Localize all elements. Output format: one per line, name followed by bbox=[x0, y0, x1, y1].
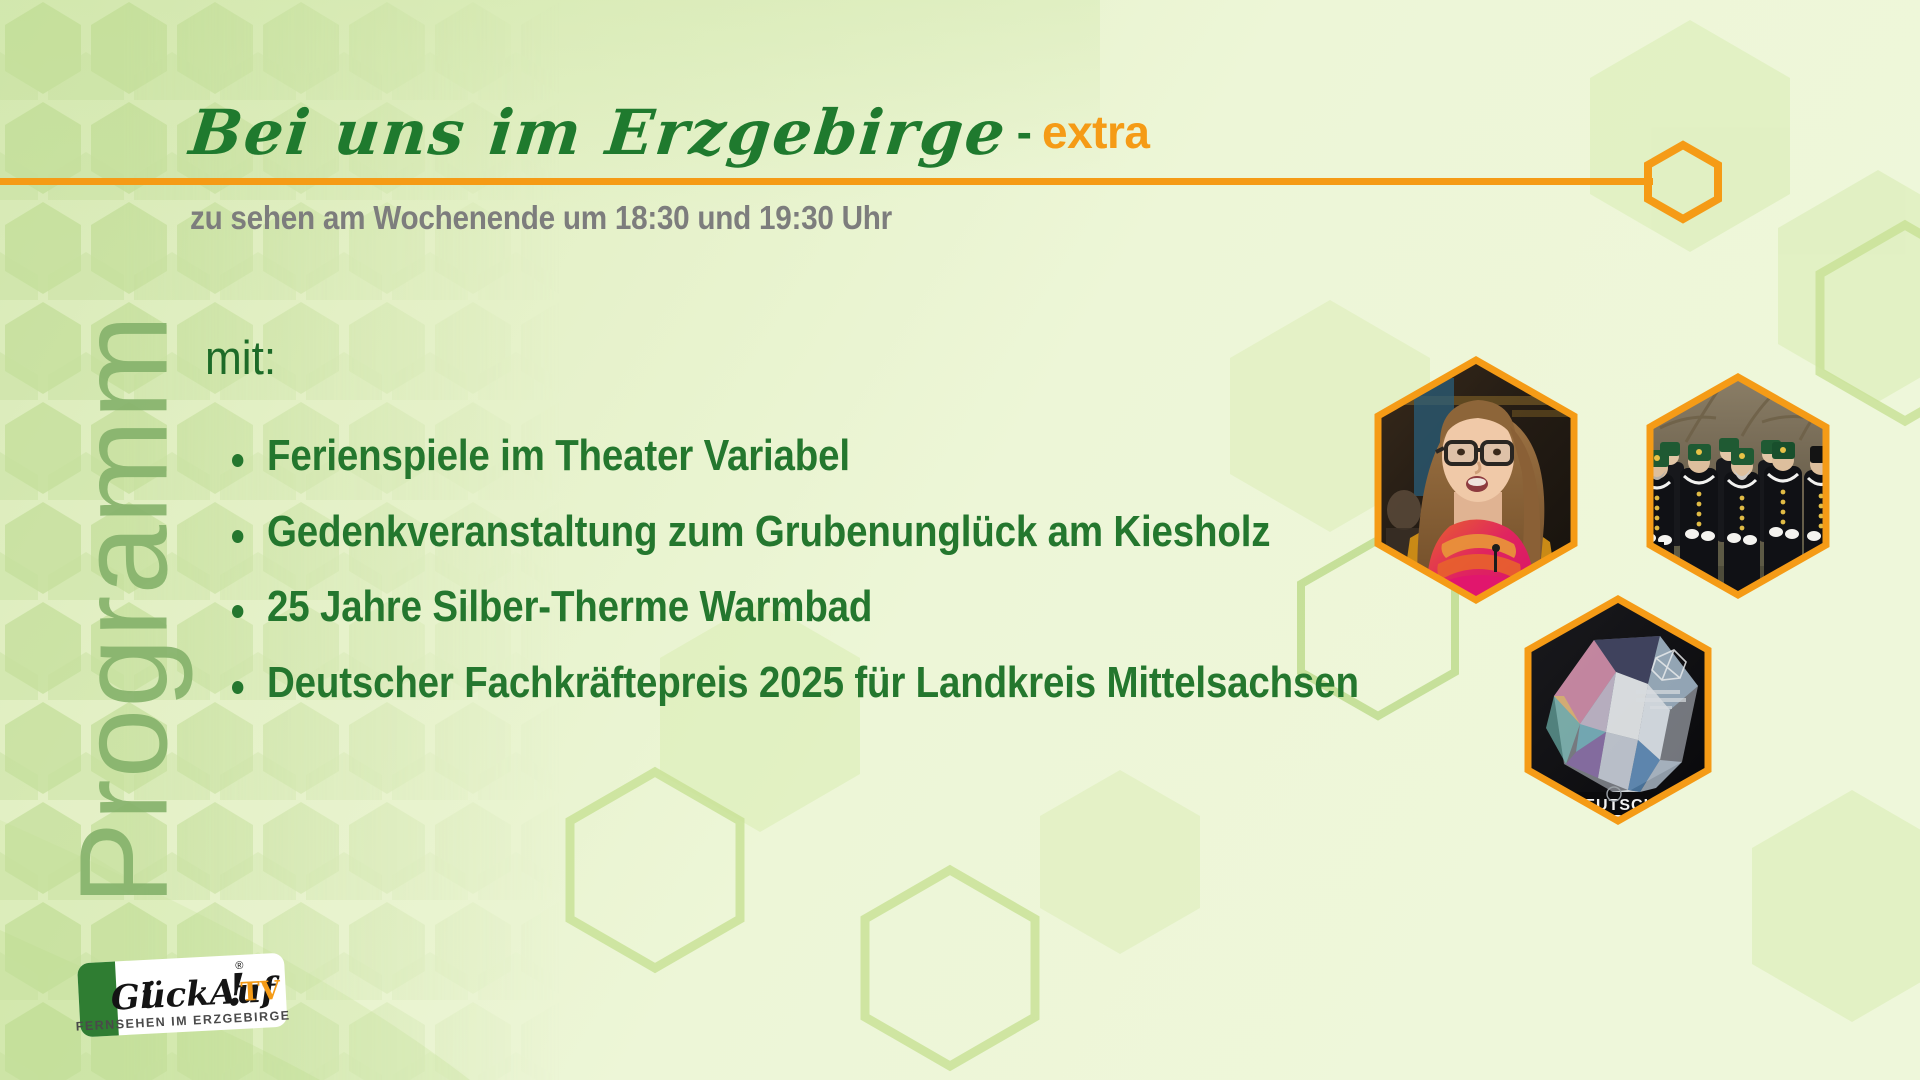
list-item: Deutscher Fachkräftepreis 2025 für Landk… bbox=[225, 659, 1359, 707]
title-extra-text: extra bbox=[1042, 105, 1149, 159]
hexagon-photo-crystal-award: DEUTSCH CHKRÄ bbox=[1510, 592, 1726, 828]
section-label-programm: Programm bbox=[53, 290, 196, 930]
list-item: Ferienspiele im Theater Variabel bbox=[225, 432, 1359, 480]
broadcast-slide: Bei uns im Erzgebirge-extra zu sehen am … bbox=[0, 0, 1920, 1080]
list-item: Gedenkveranstaltung zum Grubenunglück am… bbox=[225, 508, 1359, 556]
hexagon-outline-icon bbox=[1640, 140, 1726, 224]
broadcast-times-subtitle: zu sehen am Wochenende um 18:30 und 19:3… bbox=[190, 199, 892, 237]
title-dash: - bbox=[1007, 105, 1042, 159]
hexagon-photo-miners-parade bbox=[1632, 370, 1844, 602]
program-list: Ferienspiele im Theater Variabel Gedenkv… bbox=[225, 432, 1521, 734]
hexagon-photo-interview-woman bbox=[1362, 352, 1590, 608]
svg-text:®: ® bbox=[235, 960, 244, 972]
list-item: 25 Jahre Silber-Therme Warmbad bbox=[225, 583, 1359, 631]
page-title: Bei uns im Erzgebirge-extra bbox=[190, 96, 1149, 169]
intro-label: mit: bbox=[205, 330, 276, 385]
title-main-text: Bei uns im Erzgebirge bbox=[186, 96, 1010, 169]
header-divider-line bbox=[0, 178, 1653, 185]
svg-text:TV: TV bbox=[240, 976, 282, 1008]
channel-logo: Gl ückAuf ! ® TV FERNSEHEN IM ERZGEBIRGE bbox=[75, 950, 290, 1048]
